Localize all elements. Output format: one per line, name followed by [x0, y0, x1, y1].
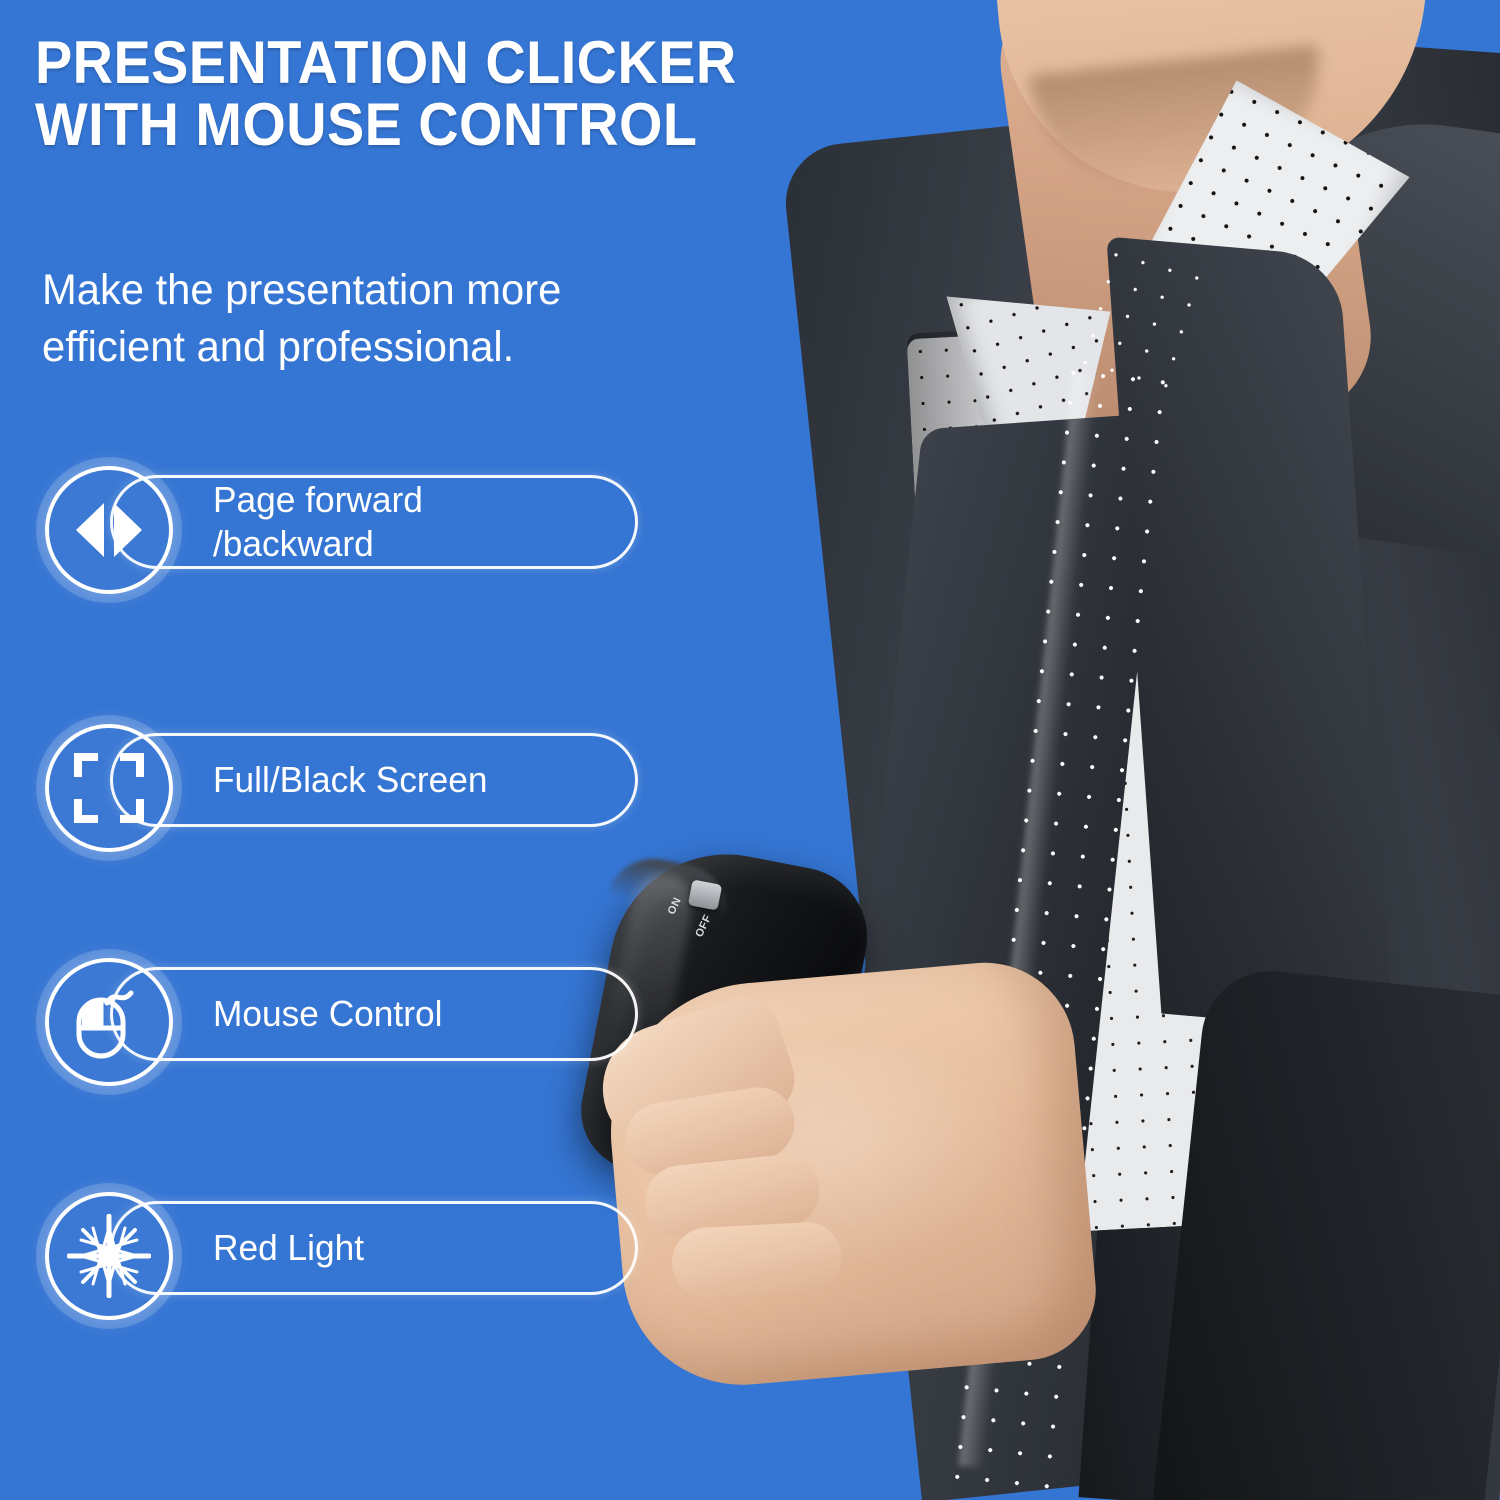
subtitle-line-2: efficient and professional.: [42, 319, 740, 376]
title-line-1: PRESENTATION CLICKER: [35, 32, 872, 94]
feature-label-line-1: Page forward: [213, 478, 423, 522]
page-forward-backward-icon: [45, 466, 173, 594]
feature-label: Full/Black Screen: [213, 724, 605, 836]
feature-label: Page forward /backward: [213, 466, 605, 578]
feature-item-page-forward-backward[interactable]: Page forward /backward: [45, 466, 605, 578]
subtitle-line-1: Make the presentation more: [42, 262, 740, 319]
feature-item-red-light[interactable]: Red Light: [45, 1192, 605, 1304]
suit-sleeve: [1153, 964, 1500, 1500]
fullscreen-brackets-icon: [45, 724, 173, 852]
feature-label: Mouse Control: [213, 958, 605, 1070]
feature-label-line-2: /backward: [213, 522, 423, 566]
computer-mouse-icon: [45, 958, 173, 1086]
product-feature-banner: ON OFF PRESENTATION CLICKER WITH MOUSE C…: [0, 0, 1500, 1500]
laser-starburst-icon: [45, 1192, 173, 1320]
finger-ring: [670, 1221, 843, 1300]
feature-item-full-black-screen[interactable]: Full/Black Screen: [45, 724, 605, 836]
page-subtitle: Make the presentation more efficient and…: [42, 262, 740, 376]
title-line-2: WITH MOUSE CONTROL: [35, 94, 872, 156]
power-switch[interactable]: [688, 879, 722, 910]
feature-item-mouse-control[interactable]: Mouse Control: [45, 958, 605, 1070]
page-title: PRESENTATION CLICKER WITH MOUSE CONTROL: [35, 32, 872, 156]
feature-label: Red Light: [213, 1192, 605, 1304]
